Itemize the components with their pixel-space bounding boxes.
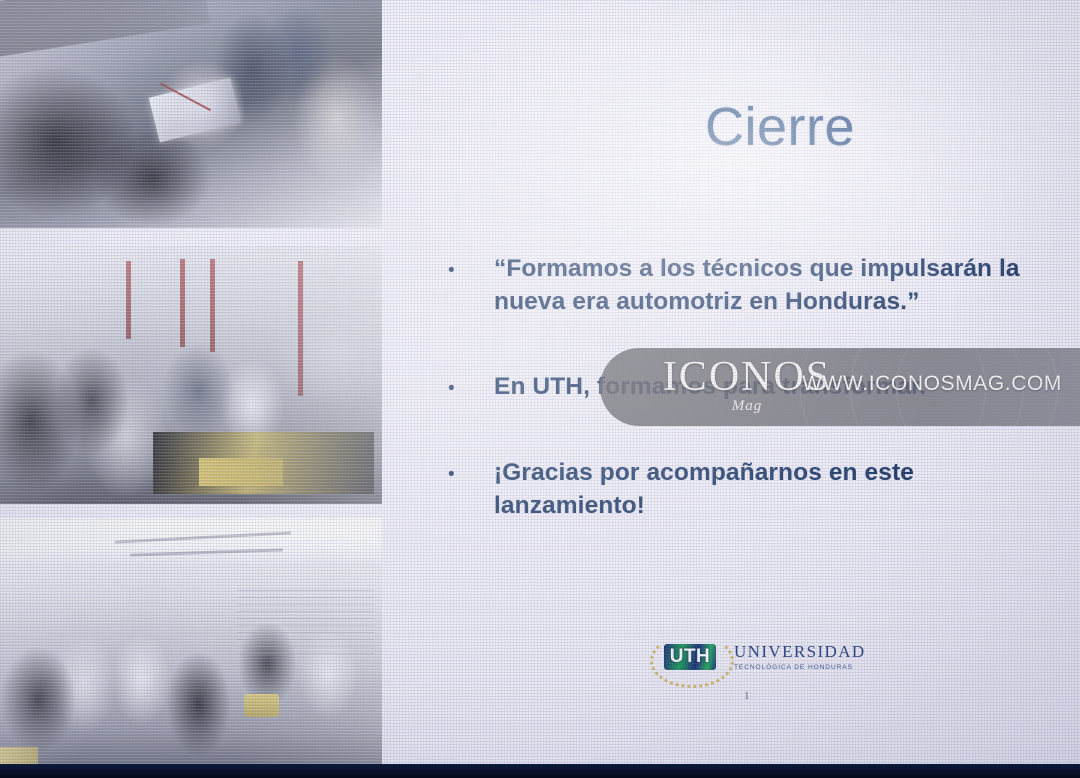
workshop-post [180, 259, 185, 347]
bullet-item-1: • “Formamos a los técnicos que impulsará… [448, 252, 1062, 318]
slide-photo-middle [0, 246, 382, 504]
iconos-watermark: ICONOS Mag WWW.ICONOSMAG.COM [600, 348, 1080, 426]
watermark-brand-sub: Mag [622, 398, 872, 415]
uth-logo: UTH UNIVERSIDAD TECNOLÓGICA DE HONDURAS [648, 632, 848, 694]
lab-ceiling [0, 518, 382, 568]
bullet-text-1: “Formamos a los técnicos que impulsarán … [494, 252, 1062, 318]
slide-photo-bottom [0, 518, 382, 770]
bullet-marker-icon: • [448, 370, 494, 404]
yellow-tool [244, 694, 278, 717]
workshop-post [210, 259, 215, 352]
uth-monogram-text: UTH [664, 644, 716, 670]
chassis-yellow-panel [199, 458, 283, 486]
watermark-url: WWW.ICONOSMAG.COM [802, 372, 1062, 396]
bullet-item-3: • ¡Gracias por acompañarnos en este lanz… [448, 456, 1062, 522]
uth-wordmark: UNIVERSIDAD TECNOLÓGICA DE HONDURAS [734, 642, 866, 671]
workshop-post [298, 261, 303, 395]
bullet-marker-icon: • [448, 456, 494, 522]
slide-photo-top [0, 0, 382, 228]
slide-title: Cierre [600, 96, 960, 158]
workshop-post [126, 261, 131, 338]
uth-emblem-icon: UTH [648, 632, 730, 688]
bullet-marker-icon: • [448, 252, 494, 318]
bullet-text-3: ¡Gracias por acompañarnos en este lanzam… [494, 456, 1062, 522]
monitor-bottom-bezel [0, 764, 1080, 778]
lab-shelving [237, 589, 375, 655]
slide-page-number: 1 [744, 690, 750, 702]
uth-university-name: UNIVERSIDAD [734, 642, 866, 662]
uth-tagline: TECNOLÓGICA DE HONDURAS [734, 664, 866, 671]
projected-slide-screenshot: Cierre • “Formamos a los técnicos que im… [0, 0, 1080, 778]
